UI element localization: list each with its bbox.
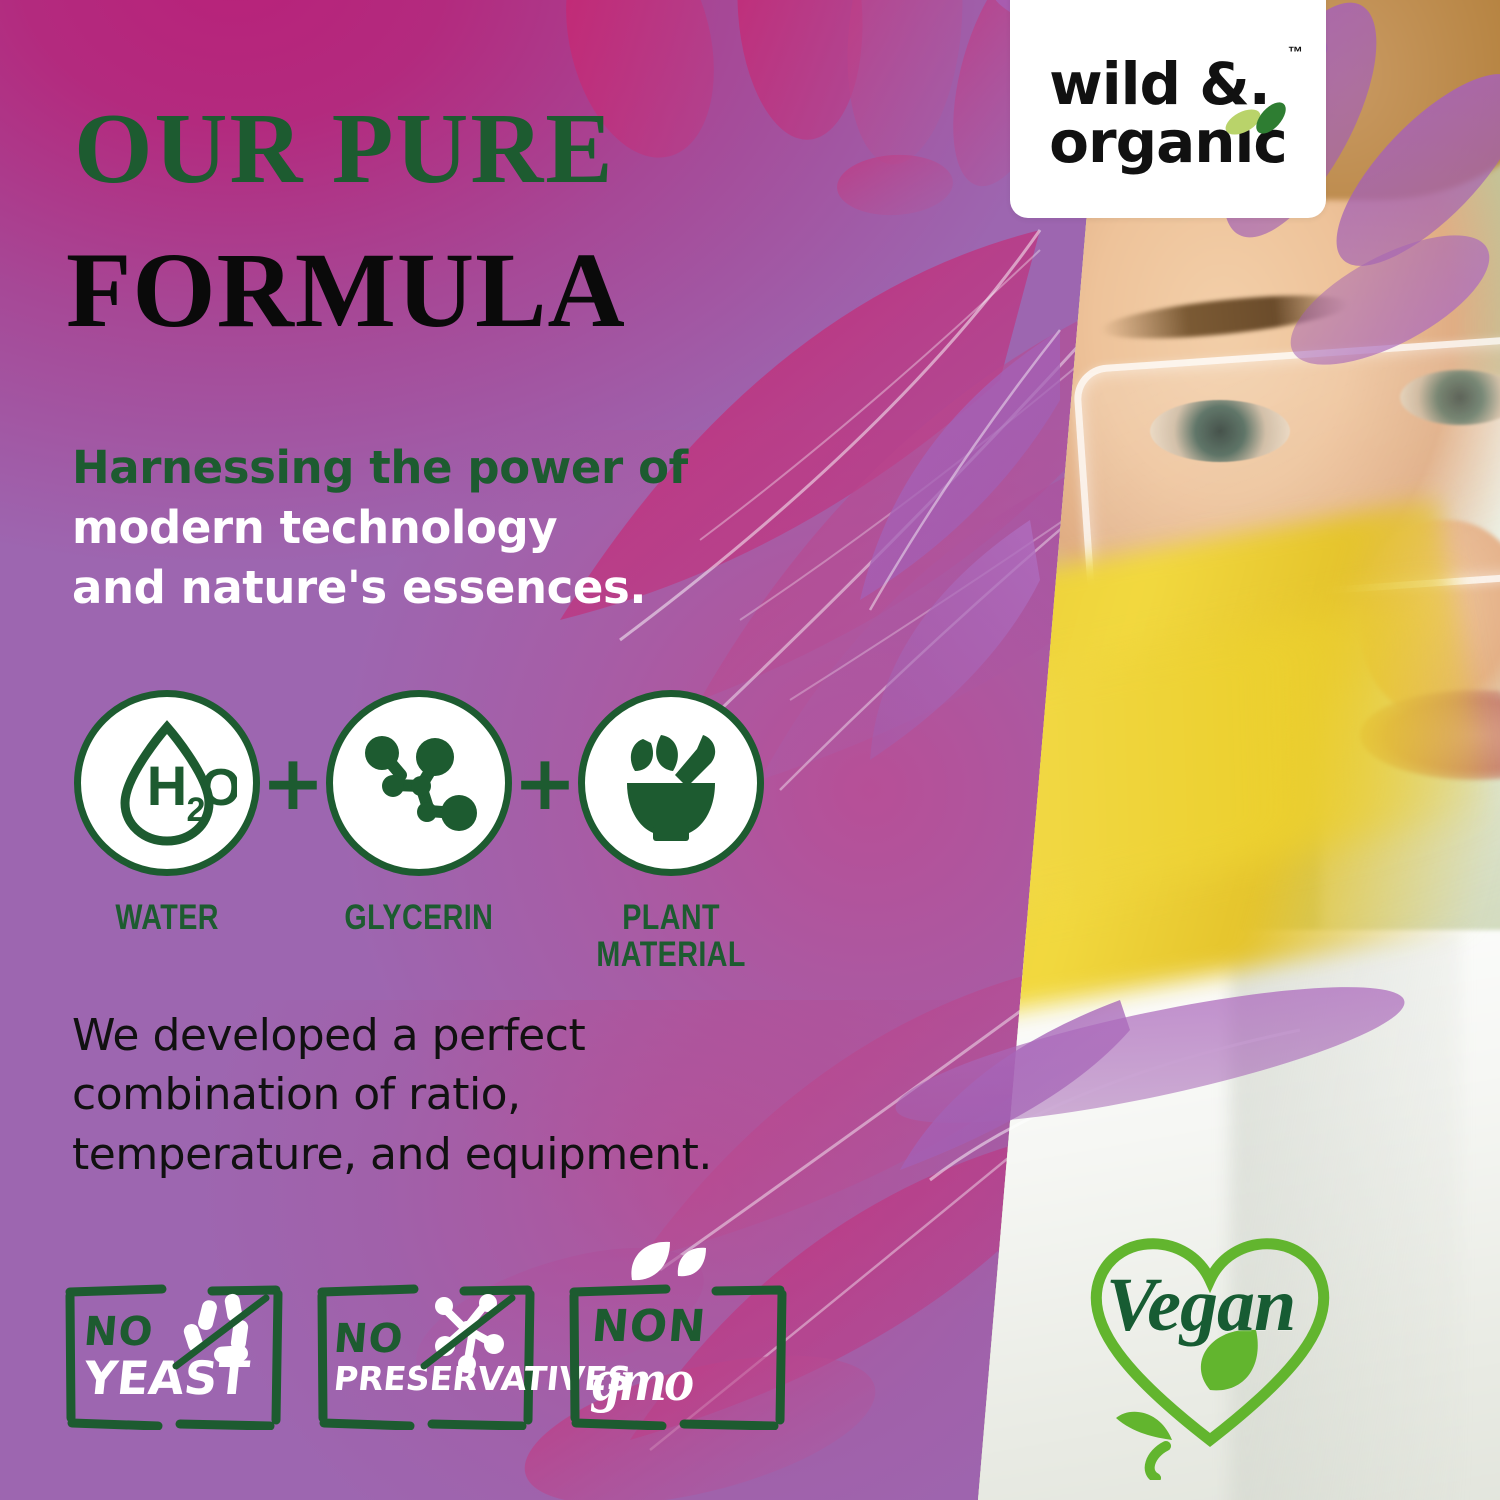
infographic-canvas: wild &. organic ™ OUR PURE FORMULA Harne…: [0, 0, 1500, 1500]
paragraph-line-1: We developed a perfect: [72, 1006, 802, 1065]
vegan-badge[interactable]: Vegan: [1060, 1210, 1360, 1480]
paragraph-line-3: temperature, and equipment.: [72, 1125, 802, 1184]
mortar-and-pestle-icon: [601, 713, 741, 853]
paragraph-line-2: combination of ratio,: [72, 1065, 802, 1124]
badge-no-yeast[interactable]: NO YEAST: [62, 1280, 284, 1430]
molecule-icon: [349, 713, 489, 853]
badge-non-gmo[interactable]: NON gmo: [566, 1280, 788, 1430]
water-circle: H 2 O: [74, 690, 260, 876]
ingredient-label-plant-material: PLANT MATERIAL: [596, 900, 745, 974]
ingredients-row: H 2 O WATER +: [72, 690, 812, 990]
molecule-crossed-icon: [412, 1286, 522, 1376]
subheading-white-line-2: and nature's essences.: [72, 558, 792, 618]
leaf-group-top: [543, 0, 1089, 218]
badge-non-gmo-top: NON: [590, 1301, 790, 1352]
logo-leaves-icon: [1223, 92, 1293, 142]
subheading: Harnessing the power of modern technolog…: [72, 438, 792, 618]
yeast-cells-crossed-icon: [166, 1288, 276, 1378]
ingredient-plant-material[interactable]: PLANT MATERIAL: [576, 690, 766, 974]
badge-no-preservatives[interactable]: NO PRESERVATIVES: [314, 1280, 536, 1430]
body-paragraph: We developed a perfect combination of ra…: [72, 1006, 802, 1184]
ingredient-water[interactable]: H 2 O WATER: [72, 690, 262, 937]
certification-badges: NO YEAST NO PRESERVATIVES: [62, 1280, 788, 1430]
plus-separator-2: +: [514, 690, 576, 876]
ingredient-label-water: WATER: [115, 900, 219, 937]
plus-separator-1: +: [262, 690, 324, 876]
subheading-white-line-1: modern technology: [72, 498, 792, 558]
water-drop-h2o-icon: H 2 O: [97, 713, 237, 853]
plant-material-circle: [578, 690, 764, 876]
ingredient-label-glycerin: GLYCERIN: [345, 900, 494, 937]
badge-non-gmo-bottom: gmo: [592, 1352, 788, 1409]
trademark-symbol: ™: [1288, 44, 1303, 61]
page-title-line-2: FORMULA: [66, 238, 626, 345]
glycerin-circle: [326, 690, 512, 876]
ingredient-glycerin[interactable]: GLYCERIN: [324, 690, 514, 937]
vegan-label: Vegan: [1106, 1262, 1295, 1349]
brand-logo[interactable]: wild &. organic ™: [1010, 0, 1326, 218]
subheading-green-line: Harnessing the power of: [72, 438, 792, 498]
page-title-line-1: OUR PURE: [74, 98, 615, 199]
